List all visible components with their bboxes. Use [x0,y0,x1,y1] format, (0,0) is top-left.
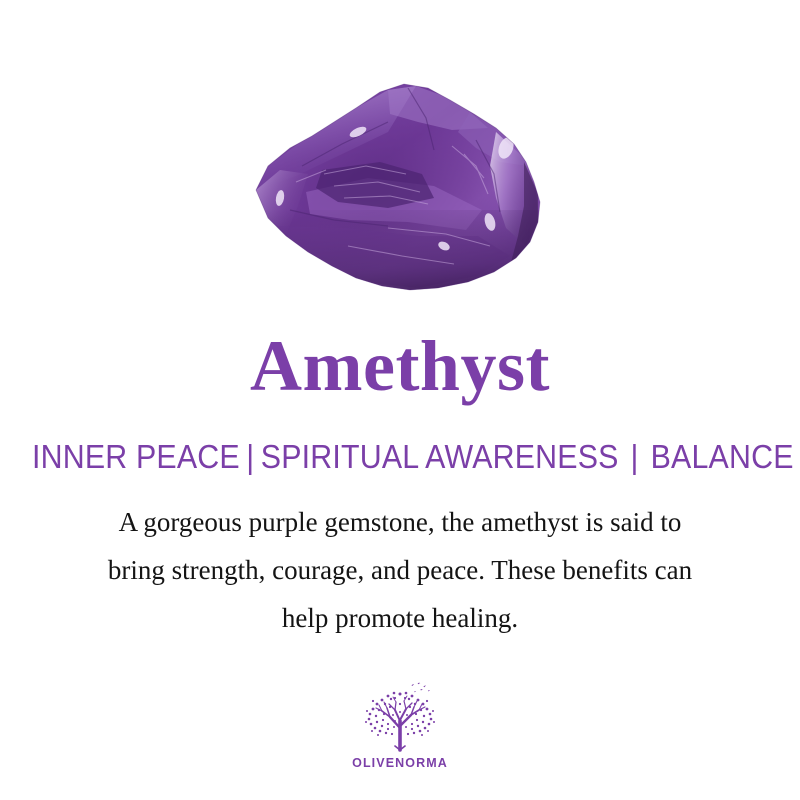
product-description: A gorgeous purple gemstone, the amethyst… [40,498,760,642]
page-title: Amethyst [0,330,800,402]
description-line-3: help promote healing. [40,594,760,642]
keyword-inner-peace: INNER PEACE [32,438,240,475]
tree-birds [412,683,431,693]
keyword-balance: BALANCE [651,438,794,475]
product-info-card: Amethyst INNER PEACE|SPIRITUAL AWARENESS… [0,0,800,800]
keyword-separator-1: | [240,438,261,475]
olivenorma-tree-icon [357,680,443,754]
brand-wordmark: OLIVENORMA [0,756,800,770]
keyword-strip: INNER PEACE|SPIRITUAL AWARENESS|BALANCE [32,440,768,473]
description-line-2: bring strength, courage, and peace. Thes… [40,546,760,594]
hero-image-area [0,0,800,320]
keyword-separator-2: | [619,438,651,475]
description-line-1: A gorgeous purple gemstone, the amethyst… [40,498,760,546]
crystal-body [238,70,562,302]
keyword-spiritual-awareness: SPIRITUAL AWARENESS [261,438,619,475]
raw-amethyst-crystal-image [238,70,562,302]
brand-logo[interactable]: OLIVENORMA [0,680,800,770]
